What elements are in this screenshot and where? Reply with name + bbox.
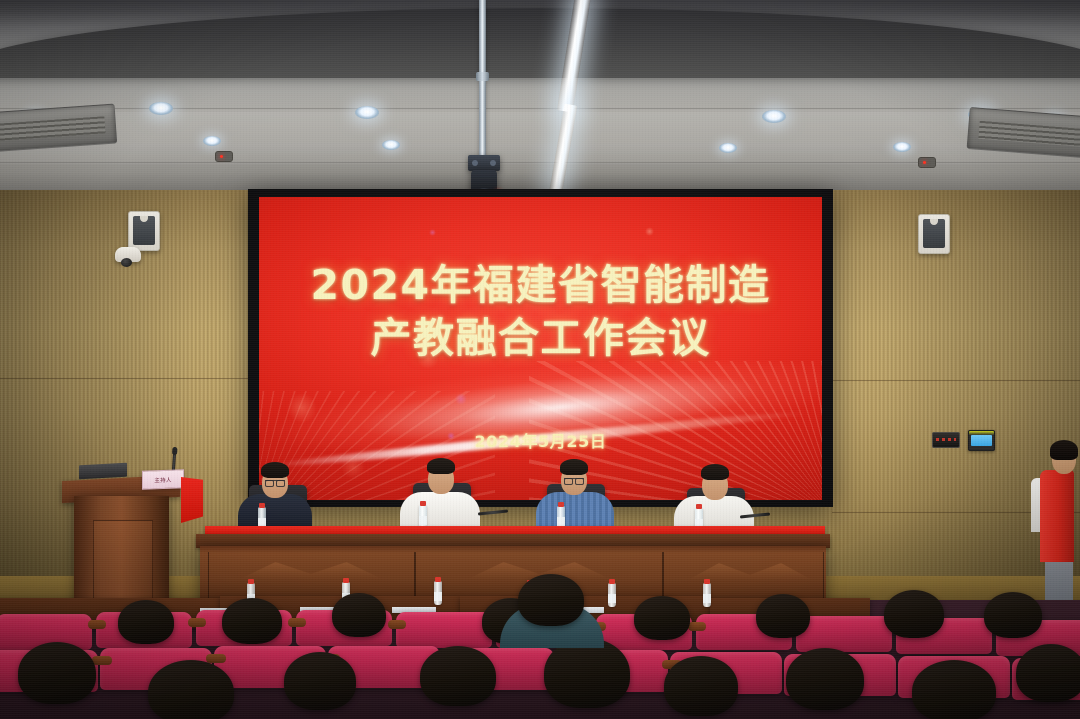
auditorium-seat	[796, 616, 892, 652]
security-camera-icon	[115, 247, 141, 262]
seat-armrest	[288, 618, 306, 627]
ceiling-band	[0, 112, 1080, 164]
av-touch-panel[interactable]	[968, 430, 995, 451]
red-flag-icon	[181, 477, 203, 523]
downlight-icon	[382, 140, 400, 150]
audience-head	[518, 574, 584, 626]
podium-name-card: 主持人	[142, 469, 184, 489]
smoke-detector-icon	[918, 157, 936, 168]
water-bottle-icon	[608, 583, 616, 607]
audience-head	[884, 590, 944, 638]
person-hair	[701, 464, 729, 480]
screen-title-text: 2024年福建省智能制造 产教融合工作会议	[259, 259, 822, 366]
podium-laptop	[79, 463, 127, 480]
water-bottle-icon	[703, 583, 711, 607]
audience-head	[912, 660, 996, 719]
led-screen[interactable]: 2024年福建省智能制造 产教融合工作会议 2024年5月25日	[259, 197, 822, 500]
wall-seam	[832, 380, 1080, 381]
downlight-icon	[719, 143, 737, 153]
audience-head	[332, 593, 386, 637]
seat-armrest	[88, 620, 106, 629]
seat-armrest	[206, 654, 226, 663]
water-bottle-icon	[434, 581, 442, 605]
downlight-icon	[203, 136, 221, 146]
smoke-detector-icon	[215, 151, 233, 162]
person-hair	[427, 458, 455, 474]
downlight-icon	[355, 106, 379, 119]
wall-seam	[0, 378, 250, 379]
downlight-icon	[893, 142, 911, 152]
person-glasses-icon	[564, 478, 584, 484]
conference-hall-photo: 2024年福建省智能制造 产教融合工作会议 2024年5月25日 主持人	[0, 0, 1080, 719]
audience-head	[148, 660, 234, 719]
seat-armrest	[188, 618, 206, 627]
audience-head	[222, 598, 282, 644]
audience-head	[756, 594, 810, 638]
screen-bokeh-particle	[455, 393, 467, 405]
screen-bokeh-particle	[341, 455, 365, 479]
screen-bokeh-particle	[645, 227, 654, 236]
projector-mount-bracket	[468, 155, 500, 171]
audience-head	[544, 638, 630, 708]
person-glasses-icon	[265, 480, 285, 486]
downlight-icon	[762, 110, 786, 123]
wall-speaker-icon	[128, 211, 160, 251]
screen-bokeh-particle	[287, 393, 317, 423]
seat-armrest	[92, 656, 112, 665]
seat-armrest	[688, 622, 706, 631]
auditorium-seat	[396, 612, 492, 648]
audience-head	[786, 648, 864, 710]
staff-red-vest	[1040, 470, 1074, 562]
audience-head	[984, 592, 1042, 638]
audience-head	[1016, 644, 1080, 702]
person-hair	[261, 462, 289, 478]
audience-head	[634, 596, 690, 640]
podium-sign-text: 主持人	[154, 475, 171, 484]
projector-pole-joint	[476, 72, 489, 81]
audience-head	[420, 646, 496, 706]
audience-head	[664, 656, 738, 716]
audience-head	[284, 652, 356, 710]
audience-head	[118, 600, 174, 644]
downlight-icon	[149, 102, 173, 115]
screen-date-text: 2024年5月25日	[259, 428, 822, 452]
lighting-control-panel[interactable]	[932, 432, 960, 448]
screen-bokeh-particle	[429, 229, 436, 236]
wall-speaker-icon	[918, 214, 950, 254]
staff-hair	[1050, 440, 1078, 460]
seat-armrest	[388, 620, 406, 629]
person-hair	[560, 459, 588, 475]
audience-head	[18, 642, 96, 704]
